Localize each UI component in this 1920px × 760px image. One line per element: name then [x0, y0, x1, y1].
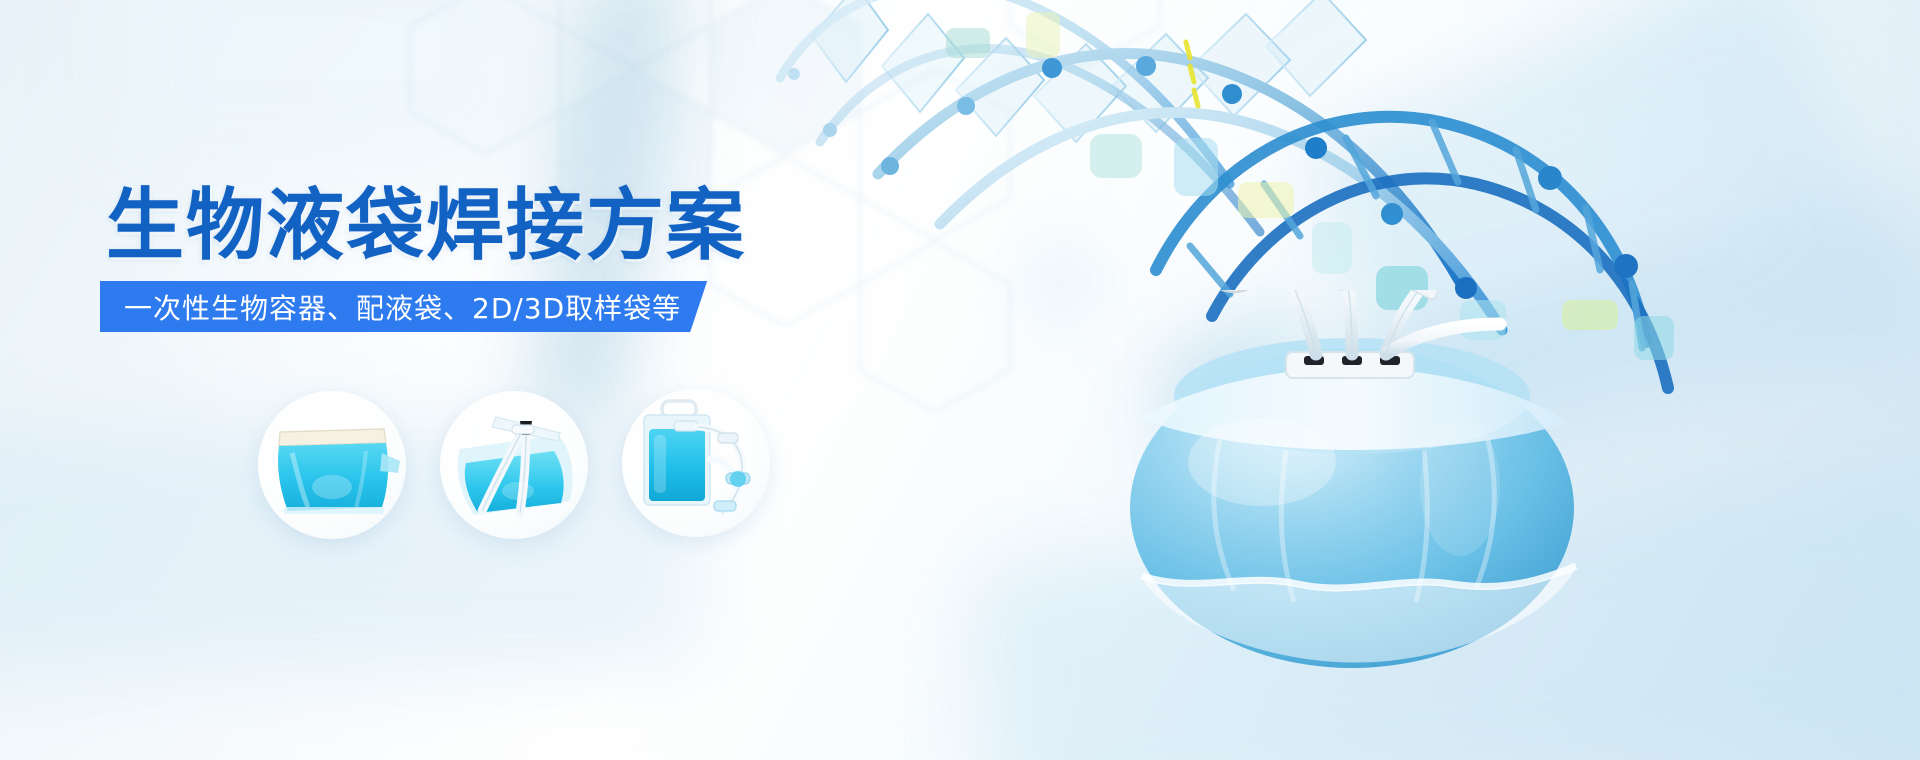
page-title: 生物液袋焊接方案 [106, 183, 746, 269]
product-thumbnail-row [258, 389, 818, 544]
subtitle-text: 一次性生物容器、配液袋、2D/3D取样袋等 [124, 287, 681, 327]
product-thumb-2[interactable] [440, 391, 588, 539]
pillow-bag-with-tubing-icon [440, 391, 588, 539]
subtitle-banner: 一次性生物容器、配液袋、2D/3D取样袋等 [100, 281, 707, 332]
sampling-bag-with-tube-set-icon [622, 389, 770, 537]
3d-bioreactor-bag-icon [1080, 290, 1640, 690]
product-thumb-3[interactable] [622, 389, 770, 537]
product-thumb-1[interactable] [258, 391, 406, 539]
flat-liquid-bag-icon [258, 391, 406, 539]
hero-banner: 生物液袋焊接方案 一次性生物容器、配液袋、2D/3D取样袋等 [0, 0, 1920, 760]
